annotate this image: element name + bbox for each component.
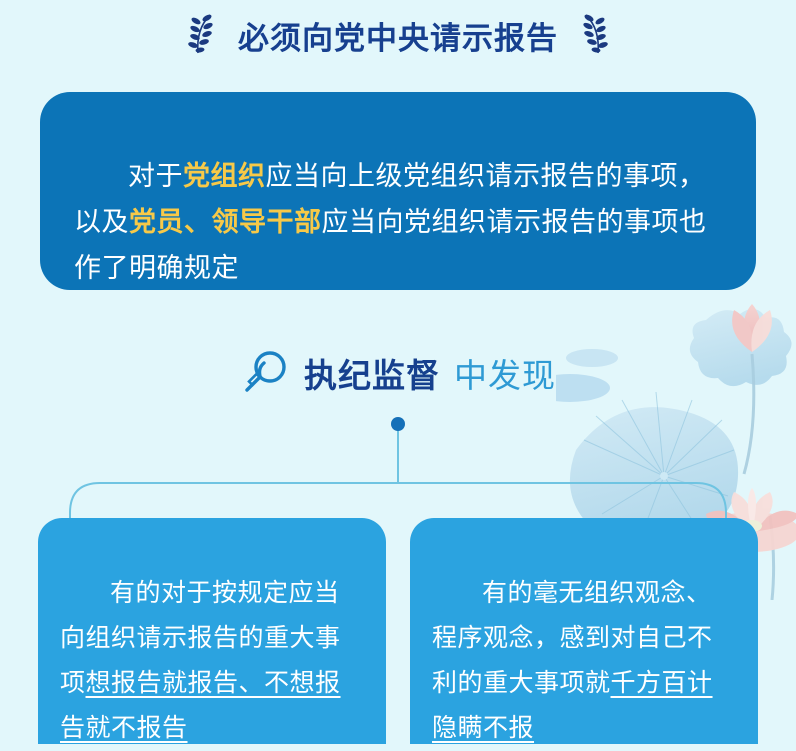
finding-card-right: 有的毫无组织观念、程序观念，感到对自己不利的重大事项就千方百计隐瞒不报: [410, 518, 758, 744]
underlined-phrase: 想报告就报告、不想报告就不报告: [60, 669, 341, 742]
main-statement-card: 对于党组织应当向上级党组织请示报告的事项，以及党员、领导干部应当向党组织请示报告…: [40, 92, 756, 290]
section-heading-light: 中发现: [454, 349, 556, 397]
main-statement-text: 对于党组织应当向上级党组织请示报告的事项，以及党员、领导干部应当向党组织请示报告…: [74, 153, 722, 291]
lotus-bud: [732, 304, 772, 352]
highlight-term-dangzuzhi: 党组织: [183, 161, 266, 191]
text-segment: 对于: [128, 161, 183, 191]
branch-connector: [0, 415, 796, 525]
magnifier-icon: [240, 348, 290, 398]
laurel-branch-left-icon: [180, 13, 220, 57]
finding-text-left: 有的对于按规定应当向组织请示报告的重大事项想报告就报告、不想报告就不报告: [60, 571, 364, 751]
laurel-branch-right-icon: [576, 13, 616, 57]
section-heading-strong: 执纪监督: [304, 349, 440, 397]
finding-card-left: 有的对于按规定应当向组织请示报告的重大事项想报告就报告、不想报告就不报告: [38, 518, 386, 744]
finding-text-right: 有的毫无组织观念、程序观念，感到对自己不利的重大事项就千方百计隐瞒不报: [432, 571, 736, 751]
connector-dot: [391, 417, 405, 431]
section-heading: 执纪监督中发现: [0, 348, 796, 398]
highlight-term-dangyuan-lingdaoganbu: 党员、领导干部: [129, 207, 322, 237]
connector-line: [70, 427, 726, 525]
page-title: 必须向党中央请示报告: [238, 13, 558, 58]
page-header: 必须向党中央请示报告: [0, 0, 796, 70]
